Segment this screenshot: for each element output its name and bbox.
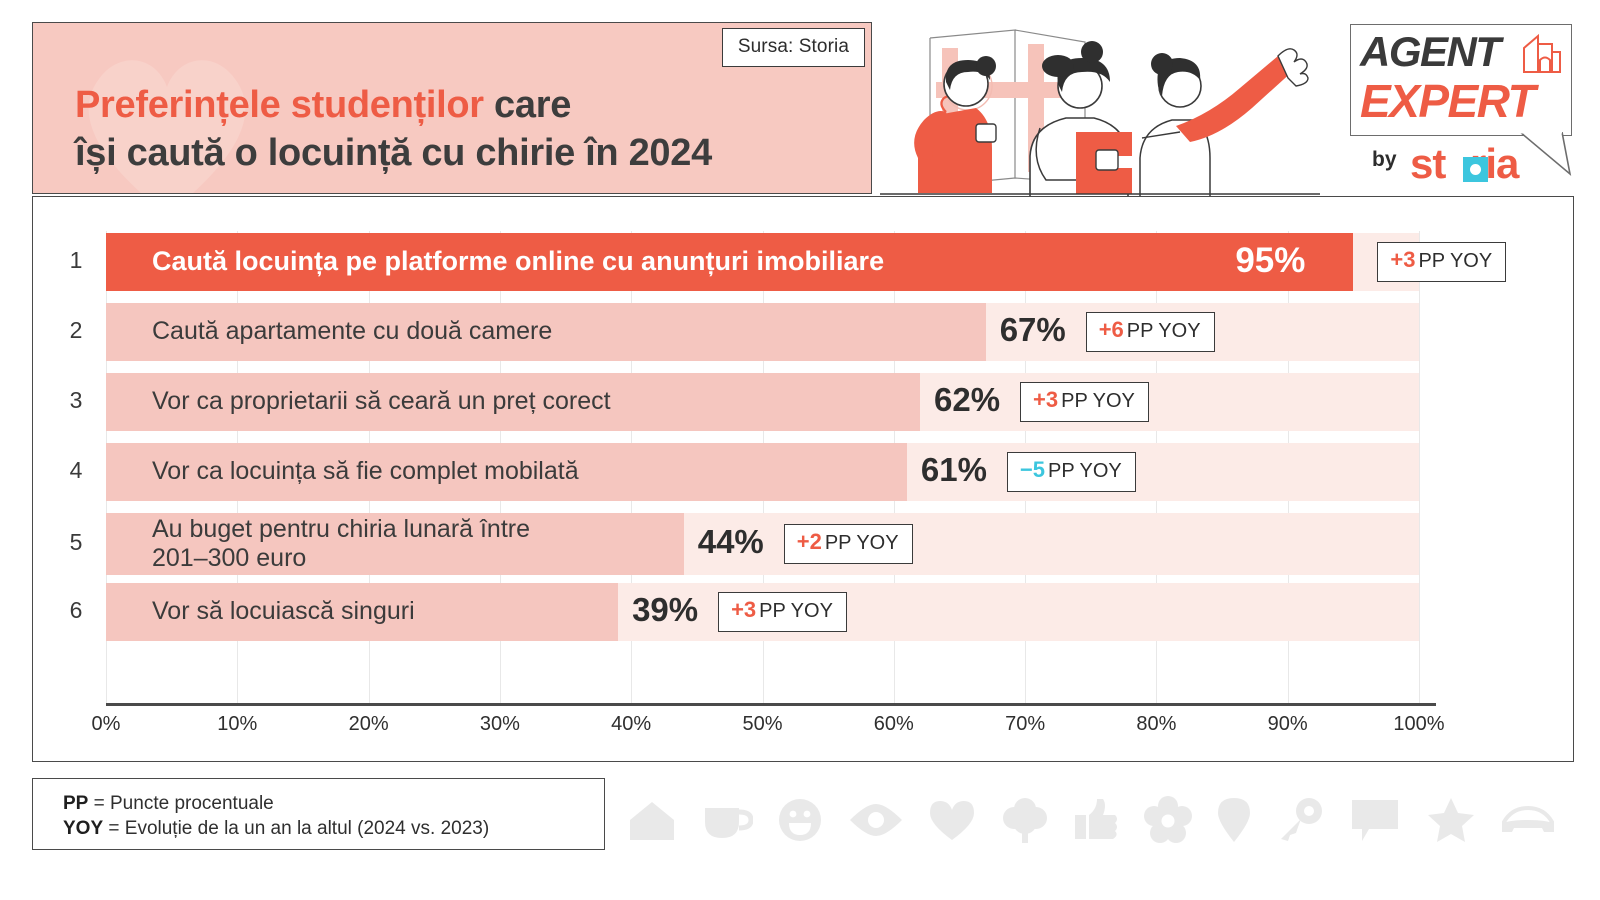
title-line-2: își caută o locuință cu chirie în 2024 <box>75 129 872 177</box>
key-icon <box>1277 797 1325 843</box>
source-badge: Sursa: Storia <box>722 28 865 67</box>
legend-box: PP = Puncte procentuale YOY = Evoluție d… <box>32 778 605 850</box>
row-rank: 3 <box>62 387 90 414</box>
x-tick-label: 20% <box>349 713 389 736</box>
yoy-badge: +2PP YOY <box>784 524 913 564</box>
title-line-1: Preferințele studenților care <box>75 81 872 129</box>
yoy-unit: PP YOY <box>1127 320 1201 342</box>
title-highlight: Preferințele studenților <box>75 84 484 126</box>
yoy-badge: +6PP YOY <box>1086 312 1215 352</box>
chart-panel: 1Caută locuința pe platforme online cu a… <box>32 196 1574 762</box>
bar-value-label: 62% <box>934 381 1000 419</box>
x-tick-label: 40% <box>611 713 651 736</box>
yoy-delta: −5 <box>1020 457 1045 482</box>
tree-icon <box>1001 796 1049 844</box>
row-rank: 1 <box>62 247 90 274</box>
bar-value-label: 95% <box>1235 241 1305 281</box>
bar-row[interactable]: 4Vor ca locuința să fie complet mobilată… <box>106 443 1419 501</box>
yoy-badge: +3PP YOY <box>718 592 847 632</box>
title-rest: care <box>484 84 571 126</box>
bubble-tail <box>1520 132 1574 178</box>
x-tick-label: 30% <box>480 713 520 736</box>
row-rank: 2 <box>62 317 90 344</box>
header-band: Sursa: Storia Preferințele studenților c… <box>32 22 872 194</box>
logo-by-text: by <box>1372 148 1397 172</box>
legend-yoy-key: YOY <box>63 818 103 839</box>
flower-icon <box>1144 796 1192 844</box>
speech-bubble-icon <box>1349 797 1401 843</box>
row-rank: 6 <box>62 597 90 624</box>
bar-row[interactable]: 2Caută apartamente cu două camere67%+6PP… <box>106 303 1419 361</box>
bar-label: Caută locuința pe platforme online cu an… <box>152 247 884 276</box>
yoy-badge: −5PP YOY <box>1007 452 1136 492</box>
yoy-badge: +3PP YOY <box>1020 382 1149 422</box>
x-tick-label: 100% <box>1393 713 1444 736</box>
x-tick-label: 70% <box>1005 713 1045 736</box>
bar-label: Caută apartamente cu două camere <box>152 317 552 346</box>
yoy-badge: +3PP YOY <box>1377 242 1506 282</box>
x-tick-label: 50% <box>742 713 782 736</box>
x-tick-label: 0% <box>92 713 121 736</box>
x-tick-label: 60% <box>874 713 914 736</box>
bar-value-label: 44% <box>698 523 764 561</box>
legend-yoy: YOY = Evoluție de la un an la altul (202… <box>63 816 604 841</box>
legend-yoy-text: = Evoluție de la un an la altul (2024 vs… <box>103 818 489 839</box>
eye-icon <box>848 802 904 838</box>
yoy-unit: PP YOY <box>825 532 899 554</box>
smiley-icon <box>777 797 823 843</box>
students-illustration <box>880 8 1320 198</box>
yoy-unit: PP YOY <box>1048 460 1122 482</box>
yoy-delta: +3 <box>731 597 756 622</box>
bar-label: Vor ca proprietarii să ceară un preț cor… <box>152 387 611 416</box>
x-tick-label: 10% <box>217 713 257 736</box>
row-rank: 4 <box>62 457 90 484</box>
storia-o-hole <box>1470 164 1481 175</box>
bar-row[interactable]: 5Au buget pentru chiria lunară între 201… <box>106 513 1419 575</box>
bar-row[interactable]: 6Vor să locuiască singuri39%+3PP YOY <box>106 583 1419 641</box>
star-icon <box>1426 796 1476 844</box>
x-tick-label: 90% <box>1268 713 1308 736</box>
yoy-unit: PP YOY <box>759 600 833 622</box>
storia-pre: st <box>1410 140 1445 187</box>
infographic-root: Sursa: Storia Preferințele studenților c… <box>0 0 1600 900</box>
row-rank: 5 <box>62 529 90 556</box>
yoy-unit: PP YOY <box>1418 250 1492 272</box>
car-icon <box>1500 802 1556 838</box>
heart-icon <box>928 798 976 842</box>
thumbs-up-icon <box>1073 797 1119 843</box>
map-pin-icon <box>1216 796 1252 844</box>
decorative-icon-strip <box>610 786 1574 854</box>
legend-pp: PP = Puncte procentuale <box>63 791 604 816</box>
bar-label: Vor ca locuința să fie complet mobilată <box>152 457 579 486</box>
x-axis-line <box>106 703 1436 706</box>
bar-row[interactable]: 1Caută locuința pe platforme online cu a… <box>106 233 1419 291</box>
building-icon <box>1518 30 1564 74</box>
x-tick-label: 80% <box>1136 713 1176 736</box>
yoy-delta: +6 <box>1099 317 1124 342</box>
yoy-unit: PP YOY <box>1061 390 1135 412</box>
cup-icon <box>701 798 753 842</box>
bar-value-label: 61% <box>921 451 987 489</box>
bar-value-label: 39% <box>632 591 698 629</box>
logo-expert-text: EXPERT <box>1360 74 1534 128</box>
gridline <box>1419 231 1420 703</box>
house-icon <box>628 798 676 842</box>
bar-label: Au buget pentru chiria lunară între 201–… <box>152 515 530 573</box>
yoy-delta: +3 <box>1390 247 1415 272</box>
logo-agent-text: AGENT <box>1360 28 1500 76</box>
bar-label: Vor să locuiască singuri <box>152 597 415 626</box>
yoy-delta: +3 <box>1033 387 1058 412</box>
agent-expert-logo: AGENT EXPERT by storia <box>1350 24 1574 196</box>
bar-value-label: 67% <box>1000 311 1066 349</box>
legend-pp-key: PP <box>63 793 88 814</box>
page-title: Preferințele studenților care își caută … <box>75 81 872 177</box>
bar-row[interactable]: 3Vor ca proprietarii să ceară un preț co… <box>106 373 1419 431</box>
legend-pp-text: = Puncte procentuale <box>88 793 273 814</box>
yoy-delta: +2 <box>797 529 822 554</box>
